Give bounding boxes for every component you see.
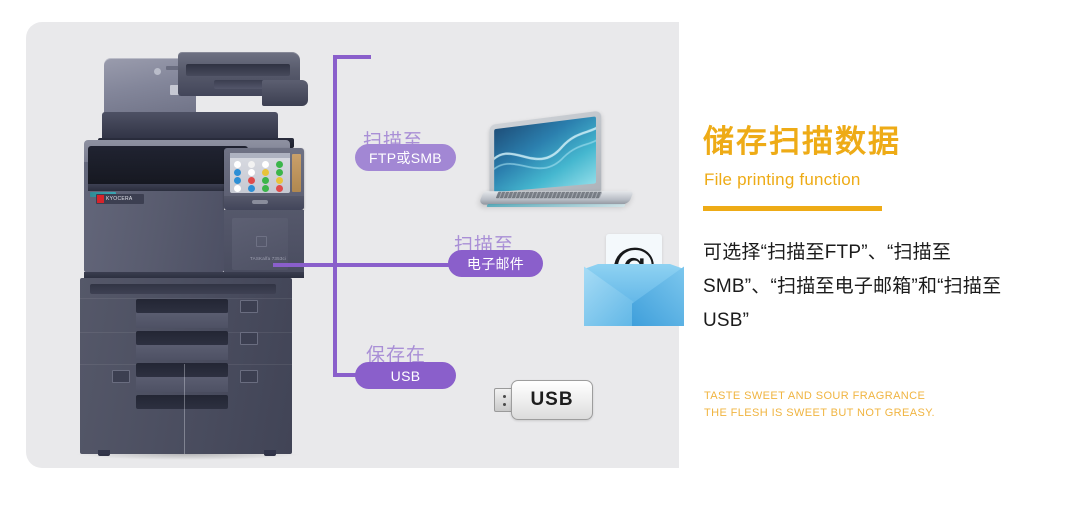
laptop-screen	[494, 116, 596, 192]
accent-divider	[703, 206, 882, 211]
footer-tagline-line-1: TASTE SWEET AND SOUR FRAGRANCE	[704, 390, 925, 402]
branch-pill-ftp-smb[interactable]: FTP或SMB	[355, 144, 456, 171]
body-description: 可选择“扫描至FTP”、“扫描至SMB”、“扫描至电子邮箱”和“扫描至USB”	[703, 236, 1033, 338]
branch-pill-email[interactable]: 电子邮件	[448, 250, 543, 277]
laptop-icon	[481, 118, 636, 218]
page-subtitle: File printing function	[704, 170, 861, 190]
usb-drive-label: USB	[511, 380, 593, 420]
usb-connector-pin	[503, 395, 506, 398]
usb-connector-pin	[503, 403, 506, 406]
footer-tagline-line-2: THE FLESH IS SWEET BUT NOT GREASY.	[704, 407, 935, 419]
content-column: 储存扫描数据 File printing function 可选择“扫描至FTP…	[703, 0, 1063, 520]
page-title: 储存扫描数据	[703, 116, 901, 161]
illustration-panel: KYOCERA TASKalfa 7353ci	[26, 22, 679, 468]
laptop-lid	[490, 111, 602, 201]
laptop-front-edge	[486, 204, 625, 207]
email-envelope-icon: @	[582, 234, 686, 338]
laptop-keyboard	[496, 192, 603, 198]
branch-pill-usb[interactable]: USB	[355, 362, 456, 389]
laptop-wallpaper-icon	[494, 116, 596, 192]
usb-drive-icon: USB	[494, 380, 594, 420]
